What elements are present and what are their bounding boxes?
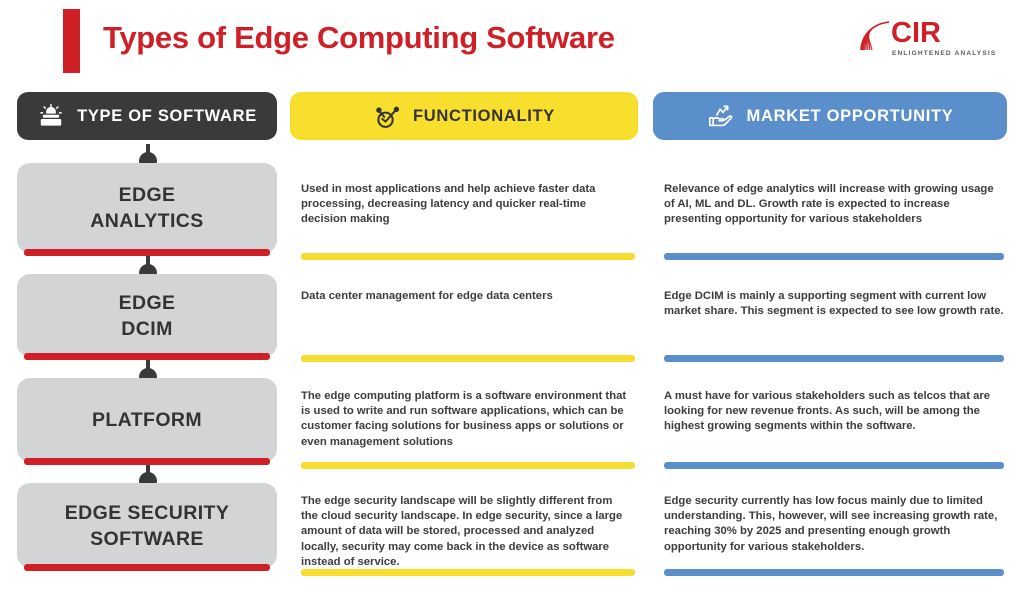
type-box-platform[interactable]: PLATFORM	[17, 378, 277, 462]
infographic-page: Types of Edge Computing Software CIR	[0, 0, 1024, 600]
functionality-text: Used in most applications and help achie…	[301, 182, 631, 228]
type-box-label: EDGE DCIM	[119, 290, 176, 342]
logo-wordmark: CIR	[891, 18, 941, 48]
type-box-label: EDGE ANALYTICS	[90, 182, 203, 234]
market-opportunity-text: Relevance of edge analytics will increas…	[664, 182, 1004, 228]
logo-tagline: ENLIGHTENED ANALYSIS	[892, 50, 996, 57]
column-header-label: MARKET OPPORTUNITY	[747, 107, 954, 126]
type-box-label: EDGE SECURITY SOFTWARE	[65, 500, 229, 552]
page-title: Types of Edge Computing Software	[103, 20, 615, 56]
functionality-underline	[301, 569, 635, 576]
market-opportunity-underline	[664, 253, 1004, 260]
title-accent-bar	[63, 9, 80, 73]
functionality-text: The edge security landscape will be slig…	[301, 494, 631, 570]
gear-cog-icon	[37, 102, 65, 130]
column-header-type-of-software[interactable]: TYPE OF SOFTWARE	[17, 92, 277, 140]
market-opportunity-text: A must have for various stakeholders suc…	[664, 389, 1004, 435]
market-opportunity-underline	[664, 569, 1004, 576]
functionality-underline	[301, 355, 635, 362]
type-box-edge-analytics[interactable]: EDGE ANALYTICS	[17, 163, 277, 253]
market-opportunity-underline	[664, 355, 1004, 362]
functionality-text: Data center management for edge data cen…	[301, 289, 631, 304]
target-check-icon	[373, 102, 401, 130]
type-box-underline	[24, 249, 270, 256]
column-header-label: TYPE OF SOFTWARE	[77, 107, 257, 126]
type-box-underline	[24, 353, 270, 360]
type-box-underline	[24, 564, 270, 571]
market-opportunity-text: Edge security currently has low focus ma…	[664, 494, 1004, 555]
market-opportunity-text: Edge DCIM is mainly a supporting segment…	[664, 289, 1004, 319]
functionality-underline	[301, 462, 635, 469]
functionality-underline	[301, 253, 635, 260]
market-opportunity-underline	[664, 462, 1004, 469]
cir-logo: CIR ENLIGHTENED ANALYSIS	[859, 18, 979, 68]
type-box-edge-security-software[interactable]: EDGE SECURITY SOFTWARE	[17, 483, 277, 568]
type-box-underline	[24, 458, 270, 465]
column-header-label: FUNCTIONALITY	[413, 107, 555, 126]
type-box-edge-dcim[interactable]: EDGE DCIM	[17, 274, 277, 357]
column-header-market-opportunity[interactable]: MARKET OPPORTUNITY	[653, 92, 1007, 140]
type-box-label: PLATFORM	[92, 407, 202, 433]
hand-growth-icon	[707, 102, 735, 130]
column-header-functionality[interactable]: FUNCTIONALITY	[290, 92, 638, 140]
functionality-text: The edge computing platform is a softwar…	[301, 389, 631, 450]
radial-fan-icon	[859, 20, 893, 56]
